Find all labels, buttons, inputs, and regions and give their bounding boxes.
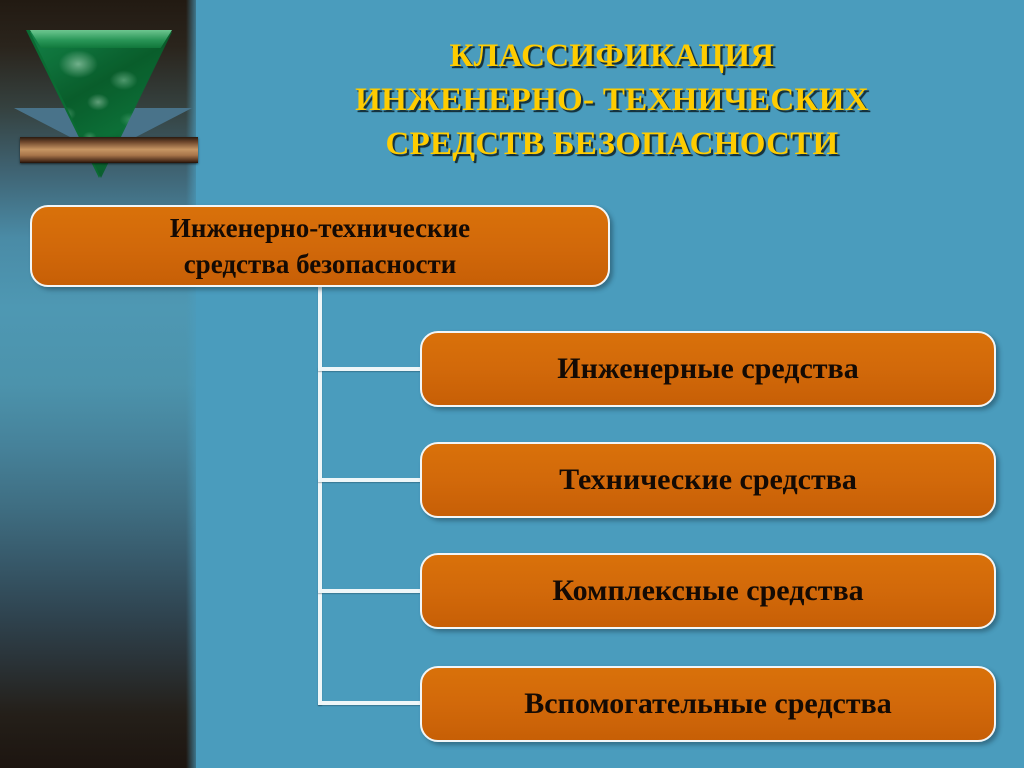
diagram-node-root-line-2: средства безопасности — [170, 246, 470, 282]
connector-branch-4 — [318, 701, 422, 705]
page-title-line-1: КЛАССИФИКАЦИЯ — [212, 34, 1012, 78]
diagram-node-root[interactable]: Инженерно-технические средства безопасно… — [30, 205, 610, 287]
page-title: КЛАССИФИКАЦИЯ ИНЖЕНЕРНО- ТЕХНИЧЕСКИХ СРЕ… — [212, 34, 1012, 166]
connector-branch-3 — [318, 589, 422, 593]
page-title-line-2: ИНЖЕНЕРНО- ТЕХНИЧЕСКИХ — [212, 78, 1012, 122]
diagram-node-technical[interactable]: Технические средства — [420, 442, 996, 518]
diagram-node-complex[interactable]: Комплексные средства — [420, 553, 996, 629]
diagram-node-root-text: Инженерно-технические средства безопасно… — [170, 210, 470, 282]
slide-canvas: КЛАССИФИКАЦИЯ ИНЖЕНЕРНО- ТЕХНИЧЕСКИХ СРЕ… — [0, 0, 1024, 768]
diagram-node-engineering-label: Инженерные средства — [557, 352, 858, 386]
diagram-node-technical-label: Технические средства — [559, 463, 857, 497]
emerald-triangle-logo — [8, 22, 198, 194]
diagram-node-engineering[interactable]: Инженерные средства — [420, 331, 996, 407]
diagram-node-auxiliary[interactable]: Вспомогательные средства — [420, 666, 996, 742]
diagram-node-root-line-1: Инженерно-технические — [170, 210, 470, 246]
logo-green-top-edge-icon — [30, 30, 172, 48]
diagram-node-complex-label: Комплексные средства — [552, 574, 863, 608]
connector-branch-2 — [318, 478, 422, 482]
connector-branch-1 — [318, 367, 422, 371]
connector-trunk — [318, 285, 322, 705]
logo-bronze-bar-icon — [20, 137, 198, 163]
diagram-node-auxiliary-label: Вспомогательные средства — [524, 687, 892, 721]
page-title-line-3: СРЕДСТВ БЕЗОПАСНОСТИ — [212, 122, 1012, 166]
